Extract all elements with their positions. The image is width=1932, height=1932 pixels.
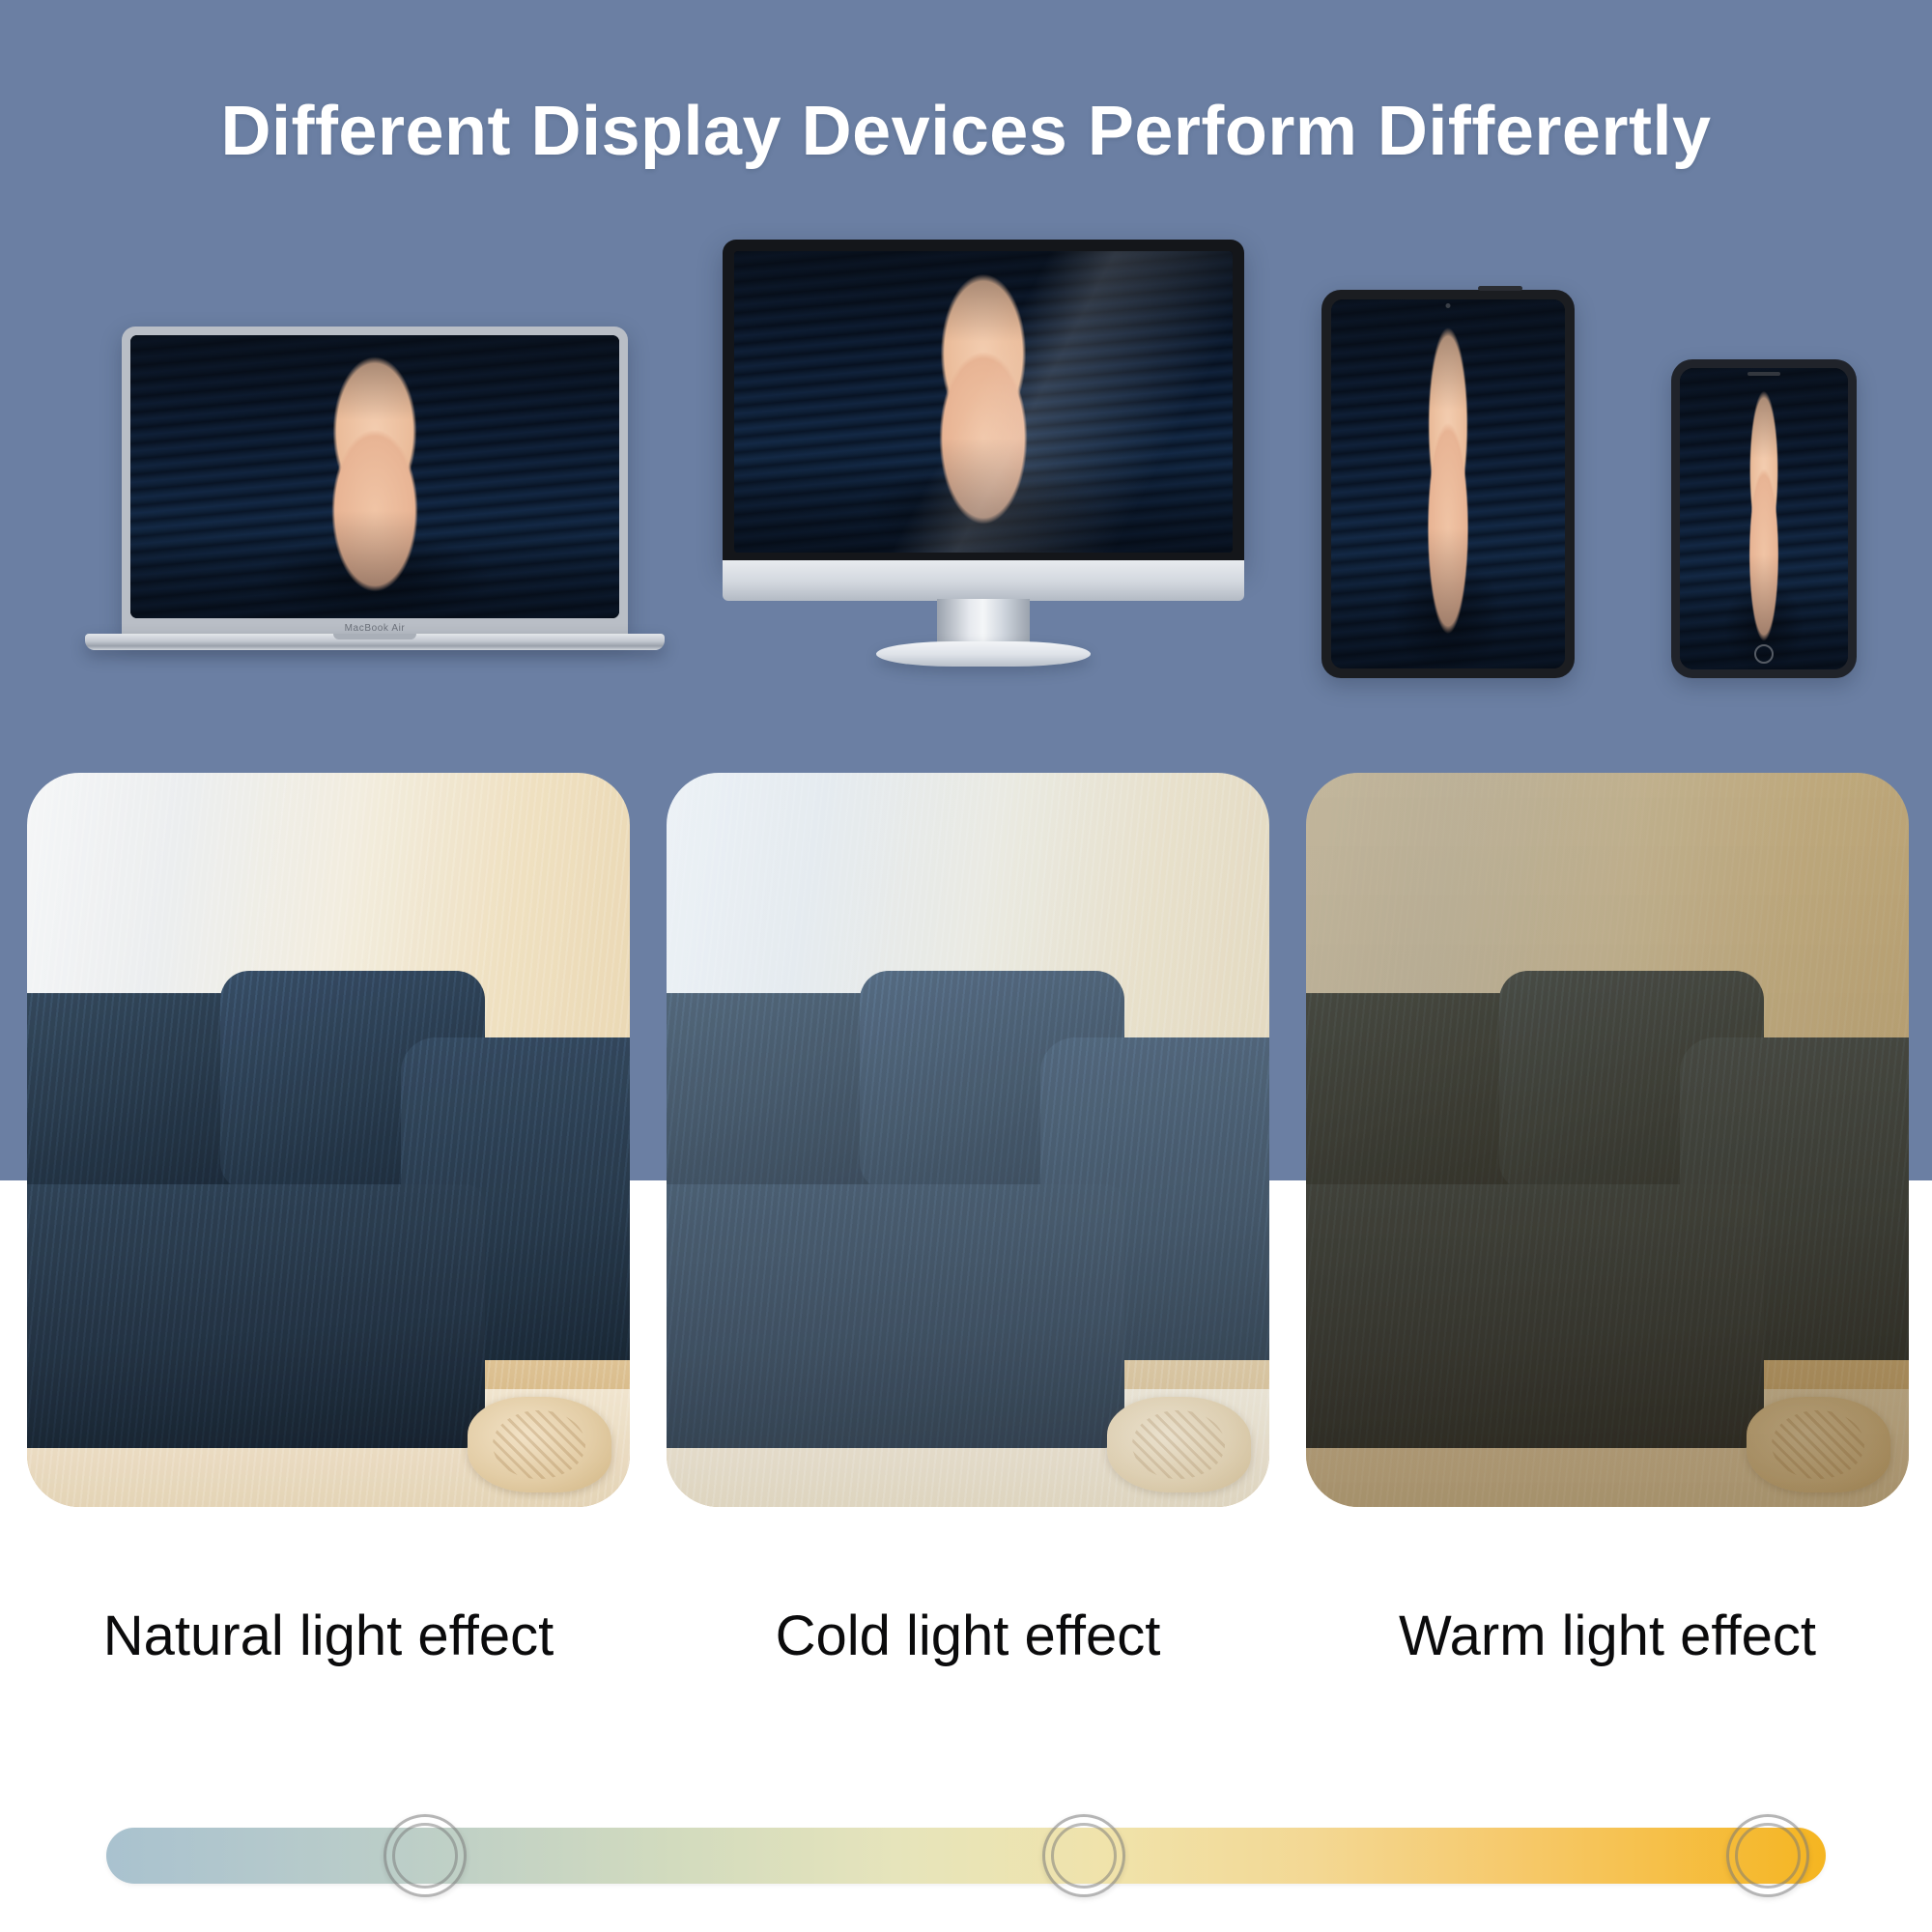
sofa-comparison-row: [0, 773, 1932, 1565]
phone-speaker-icon: [1747, 372, 1780, 376]
phone-home-button-icon: [1754, 644, 1774, 664]
label-warm-light: Warm light effect: [1306, 1604, 1909, 1668]
sofa-card-warm: [1306, 773, 1909, 1507]
device-tablet: [1321, 290, 1575, 678]
sofa-scene: [667, 773, 1269, 1507]
laptop-base: [85, 634, 665, 650]
handle-inner-ring: [392, 1823, 458, 1889]
floor-cushion: [468, 1397, 612, 1492]
label-cold-light: Cold light effect: [667, 1604, 1269, 1668]
sofa-seat-cushion: [667, 1184, 1124, 1449]
device-phone: [1671, 359, 1857, 678]
sofa-seat-cushion: [1306, 1184, 1764, 1449]
laptop-screen: [130, 335, 619, 618]
monitor-screen-image: [734, 251, 1233, 553]
infographic-page: Different Display Devices Perform Differ…: [0, 0, 1932, 1932]
sofa-backrest-left: [667, 993, 884, 1199]
phone-screen: [1680, 368, 1848, 669]
laptop-lid: MacBook Air: [122, 327, 628, 638]
color-temperature-slider[interactable]: [106, 1814, 1826, 1897]
label-natural-light: Natural light effect: [27, 1604, 630, 1668]
laptop-screen-image: [130, 335, 619, 618]
laptop-brand-label: MacBook Air: [122, 623, 628, 634]
sofa-scene: [27, 773, 630, 1507]
monitor-lid: [723, 240, 1244, 566]
handle-inner-ring: [1051, 1823, 1117, 1889]
sofa-seat-cushion: [27, 1184, 485, 1449]
tablet-screen: [1331, 299, 1565, 668]
phone-screen-image: [1680, 368, 1848, 669]
device-laptop: MacBook Air: [85, 327, 665, 674]
slider-handle-cold[interactable]: [1042, 1814, 1125, 1897]
floor-cushion: [1747, 1397, 1891, 1492]
handle-inner-ring: [1735, 1823, 1801, 1889]
tablet-power-button: [1478, 286, 1522, 291]
monitor-chin: [723, 560, 1244, 601]
sofa-backrest-left: [27, 993, 244, 1199]
sofa-card-cold: [667, 773, 1269, 1507]
device-desktop-monitor: [723, 240, 1244, 676]
monitor-stand-foot: [876, 641, 1091, 667]
slider-track[interactable]: [106, 1828, 1826, 1884]
monitor-screen: [734, 251, 1233, 553]
tablet-screen-image: [1331, 299, 1565, 668]
tablet-camera-icon: [1446, 303, 1451, 308]
page-title: Different Display Devices Perform Differ…: [0, 92, 1932, 171]
sofa-backrest-left: [1306, 993, 1523, 1199]
card-labels-row: Natural light effect Cold light effect W…: [0, 1604, 1932, 1719]
slider-handle-natural[interactable]: [384, 1814, 467, 1897]
sofa-card-natural: [27, 773, 630, 1507]
floor-cushion: [1107, 1397, 1252, 1492]
slider-handle-warm[interactable]: [1726, 1814, 1809, 1897]
sofa-scene: [1306, 773, 1909, 1507]
laptop-notch: [333, 634, 416, 639]
